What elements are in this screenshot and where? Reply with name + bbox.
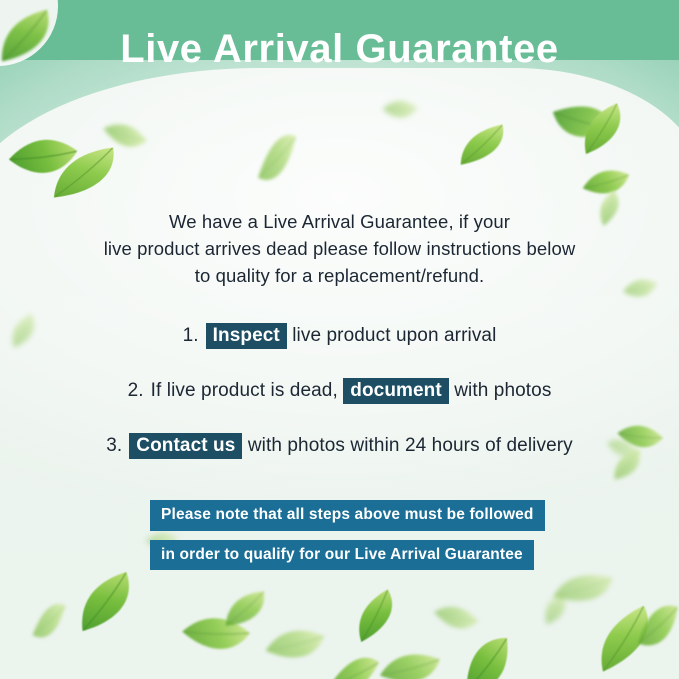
step-text-before: If live product is dead,	[151, 380, 344, 402]
step-text-after: with photos within 24 hours of delivery	[242, 435, 572, 457]
live-arrival-guarantee-poster: Live Arrival Guarantee We have a Live Ar…	[0, 0, 679, 679]
instruction-step: 1. Inspect live product upon arrival	[0, 318, 679, 354]
step-number: 3.	[106, 435, 122, 457]
page-title: Live Arrival Guarantee	[120, 27, 559, 78]
step-text-after: with photos	[449, 380, 552, 402]
header-banner: Live Arrival Guarantee	[0, 0, 679, 104]
instruction-step: 2. If live product is dead, document wit…	[0, 373, 679, 409]
intro-line-1: We have a Live Arrival Guarantee, if you…	[70, 208, 610, 235]
intro-line-3: to quality for a replacement/refund.	[70, 262, 610, 289]
step-text-after: live product upon arrival	[287, 325, 497, 347]
step-number: 2.	[128, 380, 144, 402]
intro-paragraph: We have a Live Arrival Guarantee, if you…	[70, 208, 610, 289]
step-highlight-inspect[interactable]: Inspect	[206, 323, 287, 349]
instruction-steps-list: 1. Inspect live product upon arrival 2. …	[0, 318, 679, 483]
footer-note-banners: Please note that all steps above must be…	[150, 500, 550, 570]
step-highlight-document[interactable]: document	[343, 378, 449, 404]
footer-note-line-1: Please note that all steps above must be…	[150, 500, 545, 531]
instruction-step: 3. Contact us with photos within 24 hour…	[0, 428, 679, 464]
step-number: 1.	[183, 325, 199, 347]
step-highlight-contact-us[interactable]: Contact us	[129, 433, 242, 459]
footer-note-line-2: in order to qualify for our Live Arrival…	[150, 540, 534, 571]
intro-line-2: live product arrives dead please follow …	[70, 235, 610, 262]
